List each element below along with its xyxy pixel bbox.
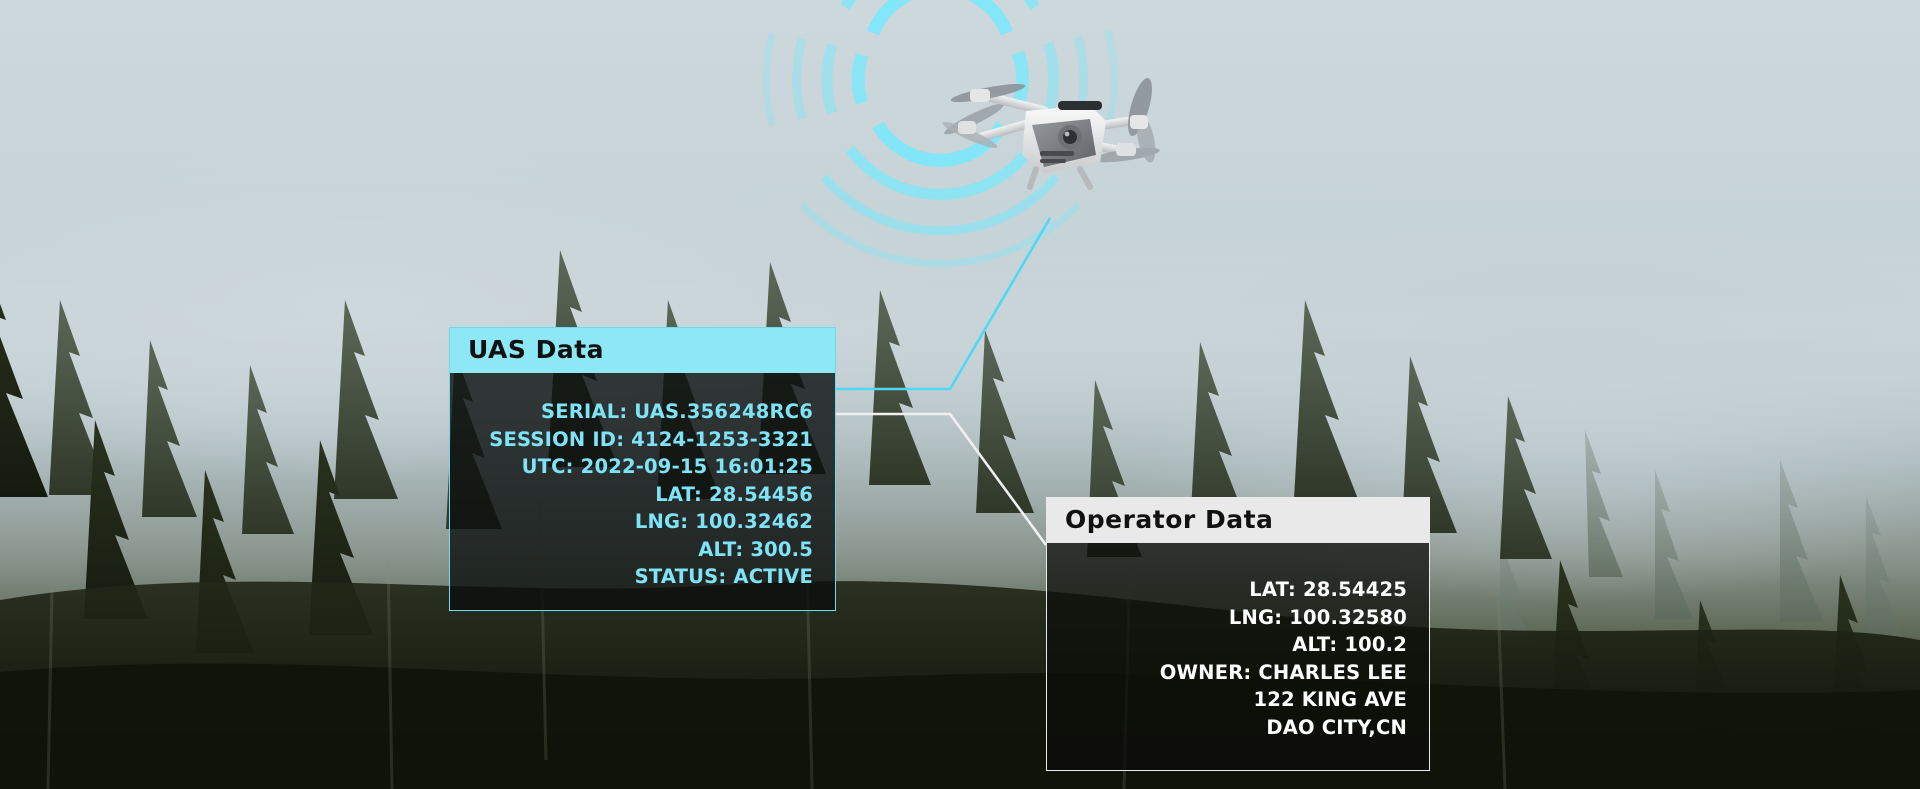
operator-row-lng: LNG: 100.32580 (1229, 605, 1407, 631)
uas-panel-body: SERIAL: UAS.356248RC6 SESSION ID: 4124-1… (450, 373, 835, 610)
operator-panel-body: LAT: 28.54425 LNG: 100.32580 ALT: 100.2 … (1047, 543, 1429, 770)
scene-root: UAS Data SERIAL: UAS.356248RC6 SESSION I… (0, 0, 1920, 789)
operator-panel-title: Operator Data (1047, 498, 1429, 543)
uas-row-session-id: SESSION ID: 4124-1253-3321 (489, 427, 813, 453)
operator-data-panel[interactable]: Operator Data LAT: 28.54425 LNG: 100.325… (1046, 497, 1430, 771)
uas-row-alt: ALT: 300.5 (698, 537, 813, 563)
uas-field-list: SERIAL: UAS.356248RC6 SESSION ID: 4124-1… (450, 399, 813, 590)
operator-row-lat: LAT: 28.54425 (1249, 577, 1407, 603)
uas-row-utc: UTC: 2022-09-15 16:01:25 (522, 454, 813, 480)
operator-row-owner: OWNER: CHARLES LEE (1160, 660, 1407, 686)
operator-row-alt: ALT: 100.2 (1292, 632, 1407, 658)
operator-row-address-1: 122 KING AVE (1253, 687, 1407, 713)
uas-row-lng: LNG: 100.32462 (635, 509, 813, 535)
operator-row-address-2: DAO CITY,CN (1266, 715, 1407, 741)
uas-data-panel[interactable]: UAS Data SERIAL: UAS.356248RC6 SESSION I… (449, 327, 836, 611)
uas-row-lat: LAT: 28.54456 (655, 482, 813, 508)
quadcopter-icon (940, 77, 1170, 209)
operator-field-list: LAT: 28.54425 LNG: 100.32580 ALT: 100.2 … (1047, 577, 1407, 740)
uas-panel-title: UAS Data (450, 328, 835, 373)
drone-assembly (940, 77, 1170, 213)
uas-row-serial: SERIAL: UAS.356248RC6 (541, 399, 813, 425)
uas-row-status: STATUS: ACTIVE (635, 564, 813, 590)
